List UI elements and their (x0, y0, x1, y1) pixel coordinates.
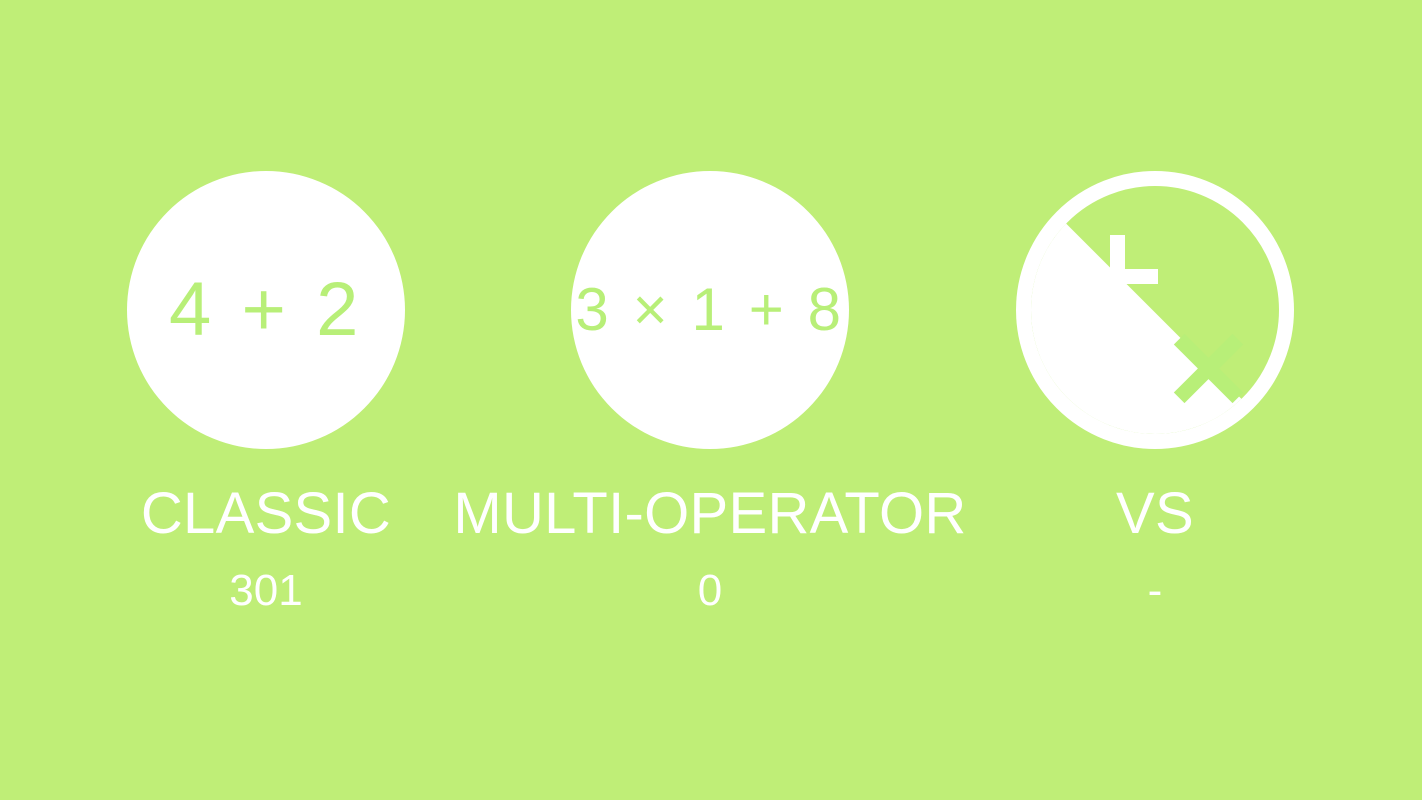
vs-high-score: - (1148, 569, 1163, 613)
classic-mode-icon[interactable]: 4 + 2 (127, 171, 405, 449)
vs-mode-icon[interactable] (1016, 171, 1294, 449)
multi-operator-mode-icon[interactable]: 3 × 1 + 8 (571, 171, 849, 449)
plus-icon (1077, 235, 1158, 318)
mode-list: 4 + 2 CLASSIC 301 3 × 1 + 8 MULTI-OPERAT… (0, 0, 1422, 800)
classic-equation-text: 4 + 2 (169, 272, 363, 348)
multi-operator-equation-text: 3 × 1 + 8 (575, 280, 844, 340)
vs-mode-label: VS (1116, 485, 1194, 543)
multiply-icon (1173, 333, 1244, 404)
classic-mode-label: CLASSIC (141, 485, 391, 543)
mode-card-multi-operator[interactable]: 3 × 1 + 8 MULTI-OPERATOR 0 (550, 160, 870, 640)
mode-card-vs[interactable]: VS - (995, 160, 1315, 640)
multi-operator-mode-label: MULTI-OPERATOR (453, 485, 966, 543)
multi-operator-high-score: 0 (698, 569, 722, 613)
game-mode-select-screen: 4 + 2 CLASSIC 301 3 × 1 + 8 MULTI-OPERAT… (0, 0, 1422, 800)
mode-card-classic[interactable]: 4 + 2 CLASSIC 301 (106, 160, 426, 640)
classic-high-score: 301 (229, 569, 302, 613)
